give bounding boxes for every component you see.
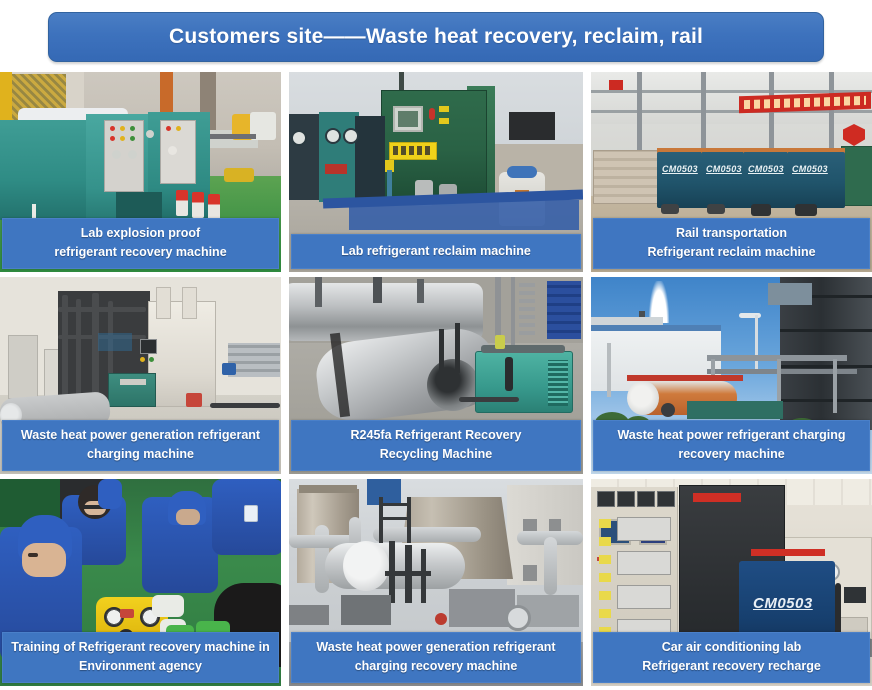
caption-line: Waste heat power refrigerant charging — [598, 426, 865, 445]
caption-line: charging machine — [7, 445, 274, 464]
photo-r245fa-recovery: R245fa Refrigerant Recovery Recycling Ma… — [289, 277, 583, 474]
caption-line: Lab explosion proof — [7, 224, 274, 243]
header-banner: Customers site——Waste heat recovery, rec… — [48, 12, 824, 62]
photo-training: Training of Refrigerant recovery machine… — [0, 479, 281, 686]
machine-model-label: CM0503 — [662, 164, 698, 174]
caption-line: Recycling Machine — [296, 445, 576, 464]
header-banner-wrapper: Customers site——Waste heat recovery, rec… — [0, 0, 872, 72]
page-root: Customers site——Waste heat recovery, rec… — [0, 0, 872, 690]
gallery-item-training[interactable]: Training of Refrigerant recovery machine… — [0, 479, 281, 686]
machine-model-label: CM0503 — [748, 164, 784, 174]
photo-waste-heat-generation-recovery: Waste heat power generation refrigerant … — [289, 479, 583, 686]
caption-lab-refrigerant-reclaim: Lab refrigerant reclaim machine — [291, 234, 581, 269]
caption-waste-heat-generation-recovery: Waste heat power generation refrigerant … — [291, 632, 581, 683]
photo-lab-refrigerant-reclaim: Lab refrigerant reclaim machine — [289, 72, 583, 272]
caption-line: Refrigerant reclaim machine — [598, 243, 865, 262]
caption-line: recovery machine — [598, 445, 865, 464]
photo-waste-heat-charging-recovery: Waste heat power refrigerant charging re… — [591, 277, 872, 474]
machine-model-label: CM0503 — [753, 595, 813, 612]
caption-training: Training of Refrigerant recovery machine… — [2, 632, 279, 683]
page-title: Customers site——Waste heat recovery, rec… — [169, 25, 703, 49]
photo-lab-explosion-proof: Lab explosion proof refrigerant recovery… — [0, 72, 281, 272]
gallery-item-car-ac-lab[interactable]: CM0503 Car air conditioning lab Refriger… — [591, 479, 872, 686]
gallery-item-waste-heat-charging[interactable]: Waste heat power generation refrigerant … — [0, 277, 281, 474]
caption-line: Rail transportation — [598, 224, 865, 243]
gallery-grid: Lab explosion proof refrigerant recovery… — [0, 72, 872, 686]
caption-line: Lab refrigerant reclaim machine — [296, 240, 576, 262]
caption-lab-explosion-proof: Lab explosion proof refrigerant recovery… — [2, 218, 279, 269]
caption-line: Car air conditioning lab — [598, 638, 865, 657]
caption-line: Waste heat power generation refrigerant — [7, 426, 274, 445]
caption-line: refrigerant recovery machine — [7, 243, 274, 262]
photo-car-ac-lab: CM0503 Car air conditioning lab Refriger… — [591, 479, 872, 686]
caption-waste-heat-charging-recovery: Waste heat power refrigerant charging re… — [593, 420, 870, 471]
machine-model-label: CM0503 — [706, 164, 742, 174]
caption-waste-heat-charging: Waste heat power generation refrigerant … — [2, 420, 279, 471]
caption-line: charging recovery machine — [296, 657, 576, 676]
photo-waste-heat-charging: Waste heat power generation refrigerant … — [0, 277, 281, 474]
caption-line: Refrigerant recovery recharge — [598, 657, 865, 676]
caption-r245fa-recovery: R245fa Refrigerant Recovery Recycling Ma… — [291, 420, 581, 471]
photo-rail-transportation: CM0503 CM0503 CM0503 CM0503 Rail transpo… — [591, 72, 872, 272]
gallery-item-waste-heat-generation-recovery[interactable]: Waste heat power generation refrigerant … — [289, 479, 583, 686]
caption-car-ac-lab: Car air conditioning lab Refrigerant rec… — [593, 632, 870, 683]
gallery-item-lab-refrigerant-reclaim[interactable]: Lab refrigerant reclaim machine — [289, 72, 583, 272]
caption-rail-transportation: Rail transportation Refrigerant reclaim … — [593, 218, 870, 269]
gallery-item-lab-explosion-proof[interactable]: Lab explosion proof refrigerant recovery… — [0, 72, 281, 272]
gallery-item-r245fa-recovery[interactable]: R245fa Refrigerant Recovery Recycling Ma… — [289, 277, 583, 474]
caption-line: Environment agency — [7, 657, 274, 676]
caption-line: R245fa Refrigerant Recovery — [296, 426, 576, 445]
caption-line: Waste heat power generation refrigerant — [296, 638, 576, 657]
caption-line: Training of Refrigerant recovery machine… — [7, 638, 274, 657]
machine-model-label: CM0503 — [792, 164, 828, 174]
gallery-item-waste-heat-charging-recovery[interactable]: Waste heat power refrigerant charging re… — [591, 277, 872, 474]
gallery-item-rail-transportation[interactable]: CM0503 CM0503 CM0503 CM0503 Rail transpo… — [591, 72, 872, 272]
